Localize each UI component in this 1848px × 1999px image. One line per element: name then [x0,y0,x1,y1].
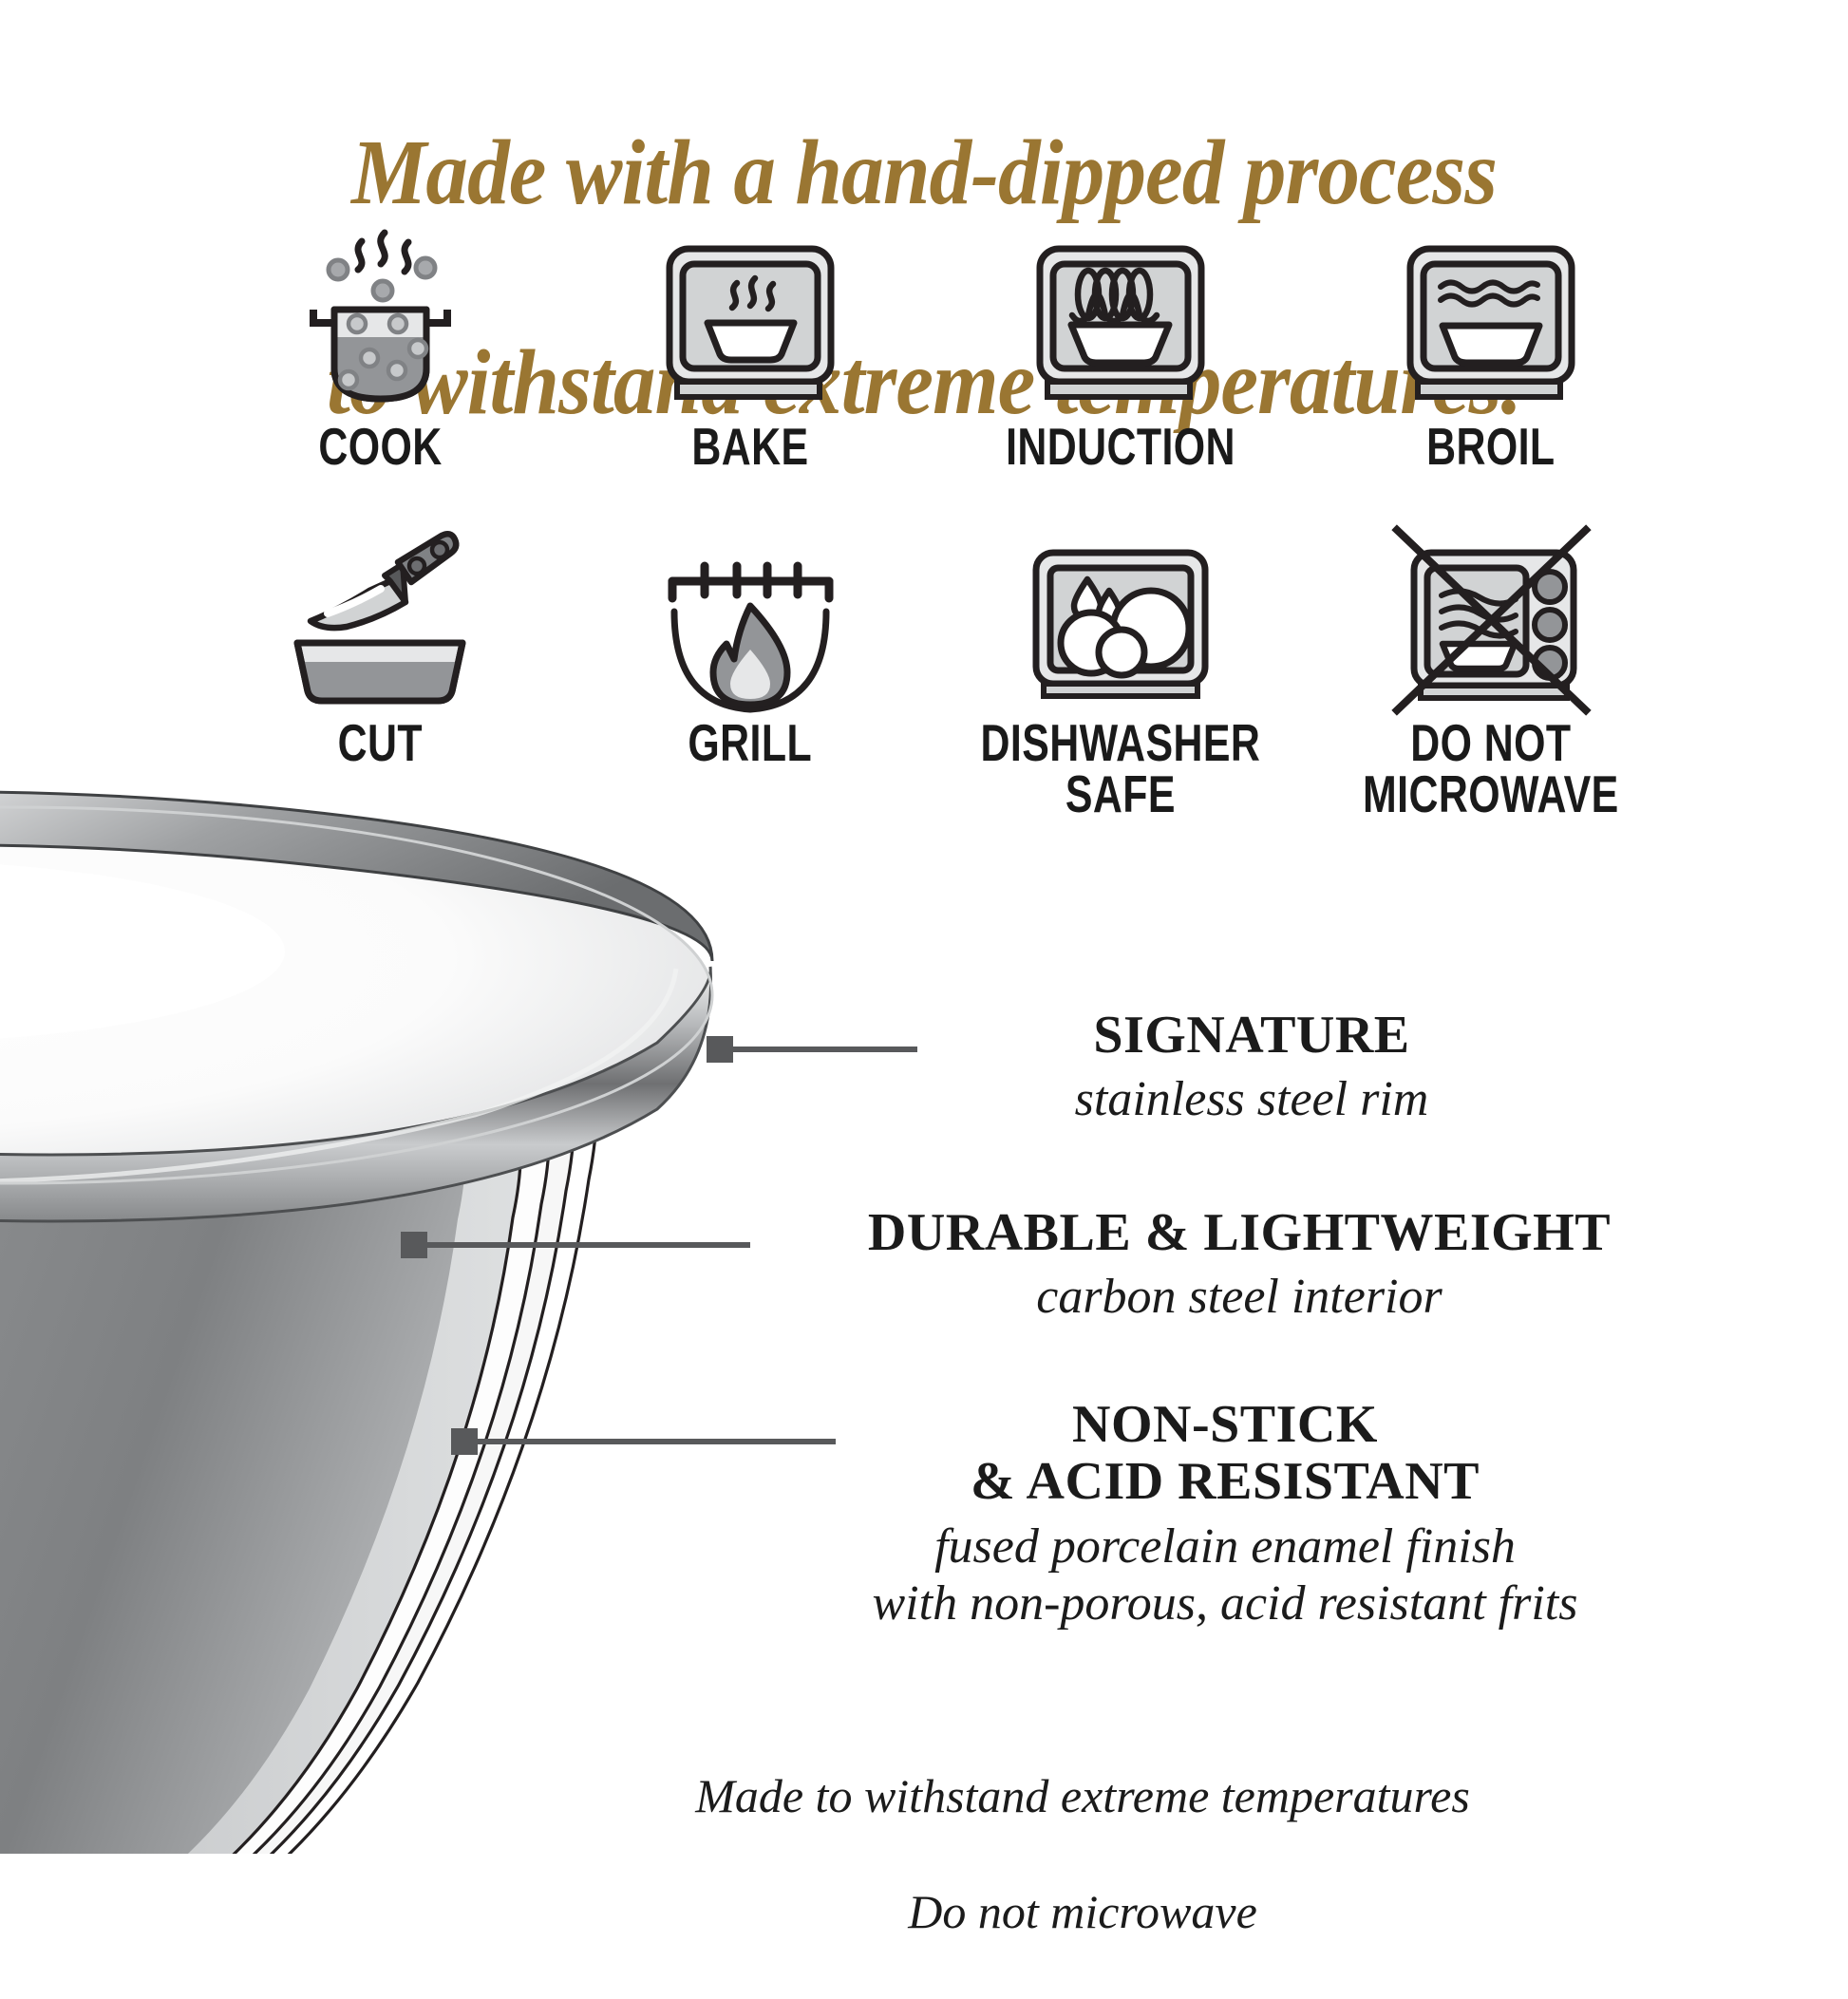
broil-icon [1389,228,1593,418]
cook-icon [278,228,482,418]
icon-cell-bake: BAKE [565,228,935,513]
icon-cell-grill: GRILL [565,524,935,809]
icon-label-bake: BAKE [691,422,808,473]
headline-line-1: Made with a hand-dipped process [74,121,1774,226]
callout-nonstick-subtitle: fused porcelain enamel finish with non-p… [703,1518,1747,1633]
usage-icon-grid: COOK BAKE [195,228,1676,809]
bake-icon [649,228,853,418]
induction-icon [1019,228,1223,418]
footnote-line-2: Do not microwave [608,1883,1557,1941]
icon-cell-do-not-microwave: DO NOT MICROWAVE [1306,524,1676,809]
dishwasher-safe-icon [1019,524,1223,714]
callout-signature: SIGNATURE stainless steel rim [919,1007,1584,1129]
icon-label-induction: INDUCTION [1006,422,1235,473]
icon-label-grill: GRILL [688,718,813,769]
footnote: Made to withstand extreme temperatures D… [608,1709,1557,1999]
icon-cell-cook: COOK [195,228,565,513]
do-not-microwave-icon [1389,524,1593,714]
callout-signature-subtitle: stainless steel rim [919,1071,1584,1128]
icon-cell-cut: CUT [195,524,565,809]
grill-icon [649,524,853,714]
icon-cell-dishwasher-safe: DISHWASHER SAFE [935,524,1306,809]
icon-label-dishwasher-safe: DISHWASHER SAFE [981,718,1261,820]
cut-icon [278,524,482,714]
callout-durable-title: DURABLE & LIGHTWEIGHT [722,1204,1757,1261]
callout-durable-subtitle: carbon steel interior [722,1269,1757,1326]
icon-cell-broil: BROIL [1306,228,1676,513]
callout-durable: DURABLE & LIGHTWEIGHT carbon steel inter… [722,1204,1757,1327]
footnote-line-1: Made to withstand extreme temperatures [608,1767,1557,1825]
callout-nonstick-title: NON-STICK & ACID RESISTANT [703,1396,1747,1511]
icon-label-cook: COOK [318,422,442,473]
icon-label-cut: CUT [337,718,422,769]
callout-nonstick: NON-STICK & ACID RESISTANT fused porcela… [703,1396,1747,1633]
icon-cell-induction: INDUCTION [935,228,1306,513]
icon-label-do-not-microwave: DO NOT MICROWAVE [1363,718,1619,820]
callout-signature-title: SIGNATURE [919,1007,1584,1064]
icon-label-broil: BROIL [1426,422,1555,473]
